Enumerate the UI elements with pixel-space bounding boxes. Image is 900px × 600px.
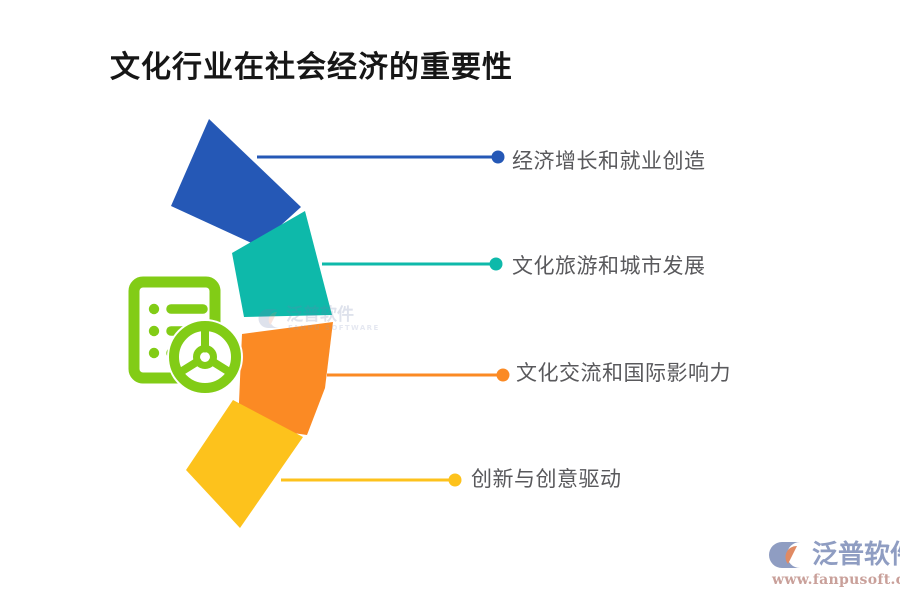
document-checklist-steering-wheel-icon [134, 282, 243, 395]
connector-dot-2[interactable] [490, 258, 503, 271]
item-label-4[interactable]: 创新与创意驱动 [471, 463, 622, 493]
slide-canvas: 文化行业在社会经济的重要性 [0, 0, 900, 600]
brand-logo-text: 泛普软件 [812, 540, 900, 570]
fanpu-logo-icon [766, 539, 808, 571]
connector-dot-3[interactable] [497, 369, 510, 382]
infographic-graphic [0, 0, 900, 600]
item-label-2[interactable]: 文化旅游和城市发展 [512, 250, 706, 280]
connector-dot-1[interactable] [492, 151, 505, 164]
item-label-1[interactable]: 经济增长和就业创造 [512, 145, 706, 175]
connector-dot-4[interactable] [449, 474, 462, 487]
brand-logo-url: www.fanpusoft.com [772, 572, 900, 588]
brand-logo[interactable]: 泛普软件 www.fanpusoft.com [766, 538, 892, 592]
item-label-3[interactable]: 文化交流和国际影响力 [516, 357, 731, 387]
